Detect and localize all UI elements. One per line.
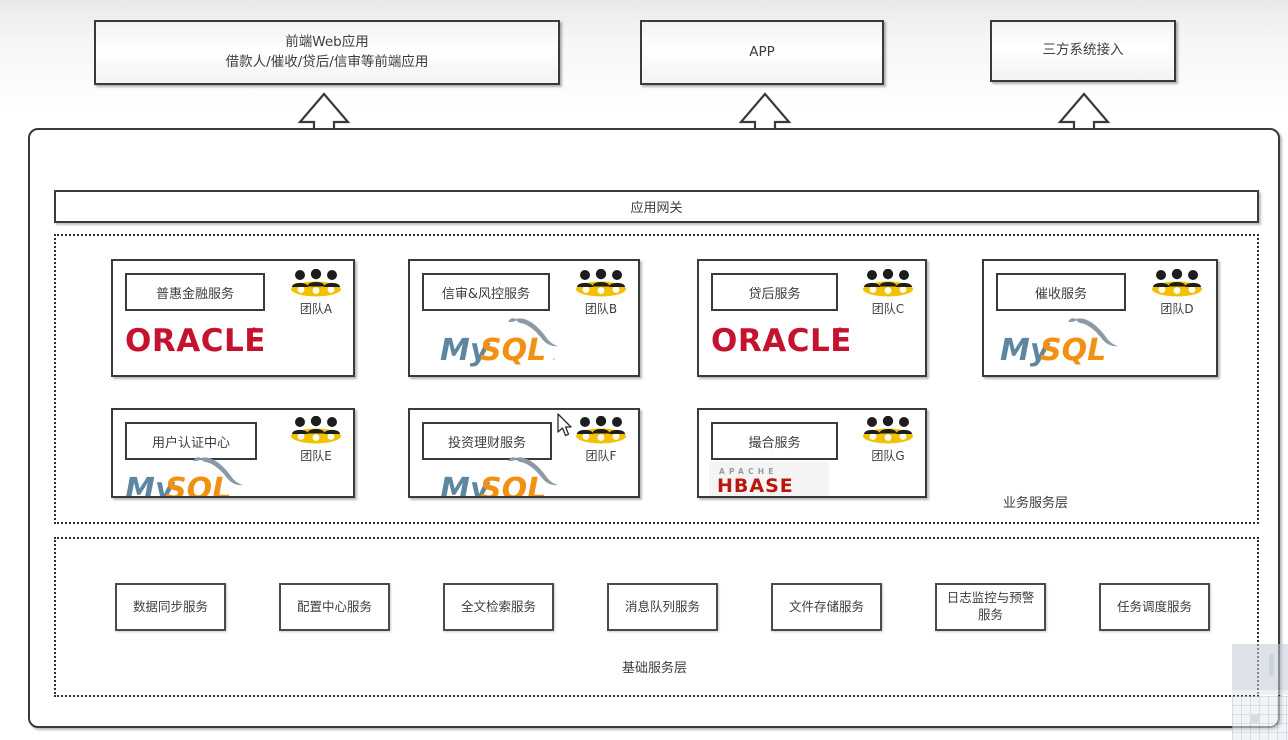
team-badge-b: 团队B <box>570 269 632 317</box>
team-badge-c: 团队C <box>857 269 919 317</box>
team-badge-g: 团队G <box>857 416 919 464</box>
svg-text:SQL: SQL <box>165 472 231 498</box>
application-gateway-bar[interactable]: 应用网关 <box>54 190 1259 223</box>
basic-service-label: 日志监控与预警服务 <box>945 590 1036 624</box>
client-box-web[interactable]: 前端Web应用 借款人/催收/贷后/信审等前端应用 <box>94 20 560 85</box>
team-people-icon <box>574 269 628 297</box>
svg-text:.: . <box>552 350 556 363</box>
team-label: 团队E <box>285 447 347 464</box>
svg-text:SQL: SQL <box>480 333 546 368</box>
client-app-label: APP <box>749 43 775 63</box>
team-people-icon <box>289 416 343 444</box>
basic-service-data-sync[interactable]: 数据同步服务 <box>115 583 226 631</box>
team-people-icon <box>861 269 915 297</box>
mysql-logo: My SQL <box>998 311 1148 377</box>
service-name: 贷后服务 <box>748 283 800 302</box>
basic-service-task-scheduler[interactable]: 任务调度服务 <box>1099 583 1210 631</box>
team-label: 团队D <box>1146 300 1208 317</box>
basic-service-label: 配置中心服务 <box>297 599 372 616</box>
team-people-icon <box>1150 269 1204 297</box>
service-card-user-auth[interactable]: 用户认证中心 团队E My SQL <box>111 408 355 498</box>
client-box-third-party[interactable]: 三方系统接入 <box>990 20 1176 82</box>
service-name: 普惠金融服务 <box>156 283 234 302</box>
service-name: 用户认证中心 <box>152 432 230 451</box>
service-card-inclusive-finance[interactable]: 普惠金融服务 团队A ORACLE <box>111 259 355 377</box>
svg-text:ORACLE: ORACLE <box>125 323 263 359</box>
basic-service-label: 任务调度服务 <box>1117 599 1192 616</box>
oracle-logo: ORACLE <box>123 319 263 365</box>
basic-service-message-queue[interactable]: 消息队列服务 <box>607 583 718 631</box>
basic-service-file-storage[interactable]: 文件存储服务 <box>771 583 882 631</box>
service-card-post-loan[interactable]: 贷后服务 团队C ORACLE <box>697 259 927 377</box>
architecture-diagram-canvas: 前端Web应用 借款人/催收/贷后/信审等前端应用 APP 三方系统接入 应用网… <box>0 0 1288 740</box>
mysql-logo: My SQL <box>123 450 273 498</box>
service-title-box: 信审&风控服务 <box>422 273 550 311</box>
svg-text:SQL: SQL <box>1040 333 1106 368</box>
basic-service-config-center[interactable]: 配置中心服务 <box>279 583 390 631</box>
team-people-icon <box>289 269 343 297</box>
client-third-party-label: 三方系统接入 <box>1043 41 1124 61</box>
service-card-investment[interactable]: 投资理财服务 团队F My SQL <box>408 408 640 498</box>
service-title-box: 撮合服务 <box>711 422 838 460</box>
team-people-icon <box>574 416 628 444</box>
service-title-box: 催收服务 <box>996 273 1126 311</box>
service-title-box: 贷后服务 <box>711 273 838 311</box>
team-people-icon <box>861 416 915 444</box>
team-badge-a: 团队A <box>285 269 347 317</box>
service-card-collection[interactable]: 催收服务 团队D My SQL <box>982 259 1218 377</box>
mysql-logo: My SQL <box>438 450 588 498</box>
client-web-line1: 前端Web应用 <box>285 33 368 53</box>
mysql-logo: My SQL . <box>438 311 588 377</box>
basic-service-label: 数据同步服务 <box>133 599 208 616</box>
service-name: 投资理财服务 <box>448 432 526 451</box>
service-title-box: 普惠金融服务 <box>125 273 265 311</box>
service-name: 催收服务 <box>1035 283 1087 302</box>
svg-text:HBASE: HBASE <box>717 475 794 496</box>
service-card-matching[interactable]: 撮合服务 团队G APACHE HBASE <box>697 408 927 498</box>
team-label: 团队G <box>857 447 919 464</box>
oracle-logo: ORACLE <box>709 319 849 365</box>
svg-text:SQL: SQL <box>480 472 546 498</box>
client-web-line2: 借款人/催收/贷后/信审等前端应用 <box>226 53 429 73</box>
basic-service-log-monitor-alert[interactable]: 日志监控与预警服务 <box>935 583 1046 631</box>
service-name: 信审&风控服务 <box>442 283 530 302</box>
service-name: 撮合服务 <box>748 432 800 451</box>
basic-service-label: 文件存储服务 <box>789 599 864 616</box>
service-card-credit-risk[interactable]: 信审&风控服务 团队B My SQL . <box>408 259 640 377</box>
gateway-label: 应用网关 <box>630 197 682 216</box>
basic-service-layer-label: 基础服务层 <box>622 657 687 676</box>
team-badge-d: 团队D <box>1146 269 1208 317</box>
basic-service-full-text-search[interactable]: 全文检索服务 <box>443 583 554 631</box>
business-service-layer-label: 业务服务层 <box>1003 492 1068 511</box>
hbase-logo: APACHE HBASE <box>709 462 829 498</box>
basic-service-label: 消息队列服务 <box>625 599 700 616</box>
svg-text:ORACLE: ORACLE <box>711 323 849 359</box>
team-label: 团队C <box>857 300 919 317</box>
team-label: 团队A <box>285 300 347 317</box>
client-box-app[interactable]: APP <box>640 20 884 85</box>
basic-service-label: 全文检索服务 <box>461 599 536 616</box>
team-badge-e: 团队E <box>285 416 347 464</box>
